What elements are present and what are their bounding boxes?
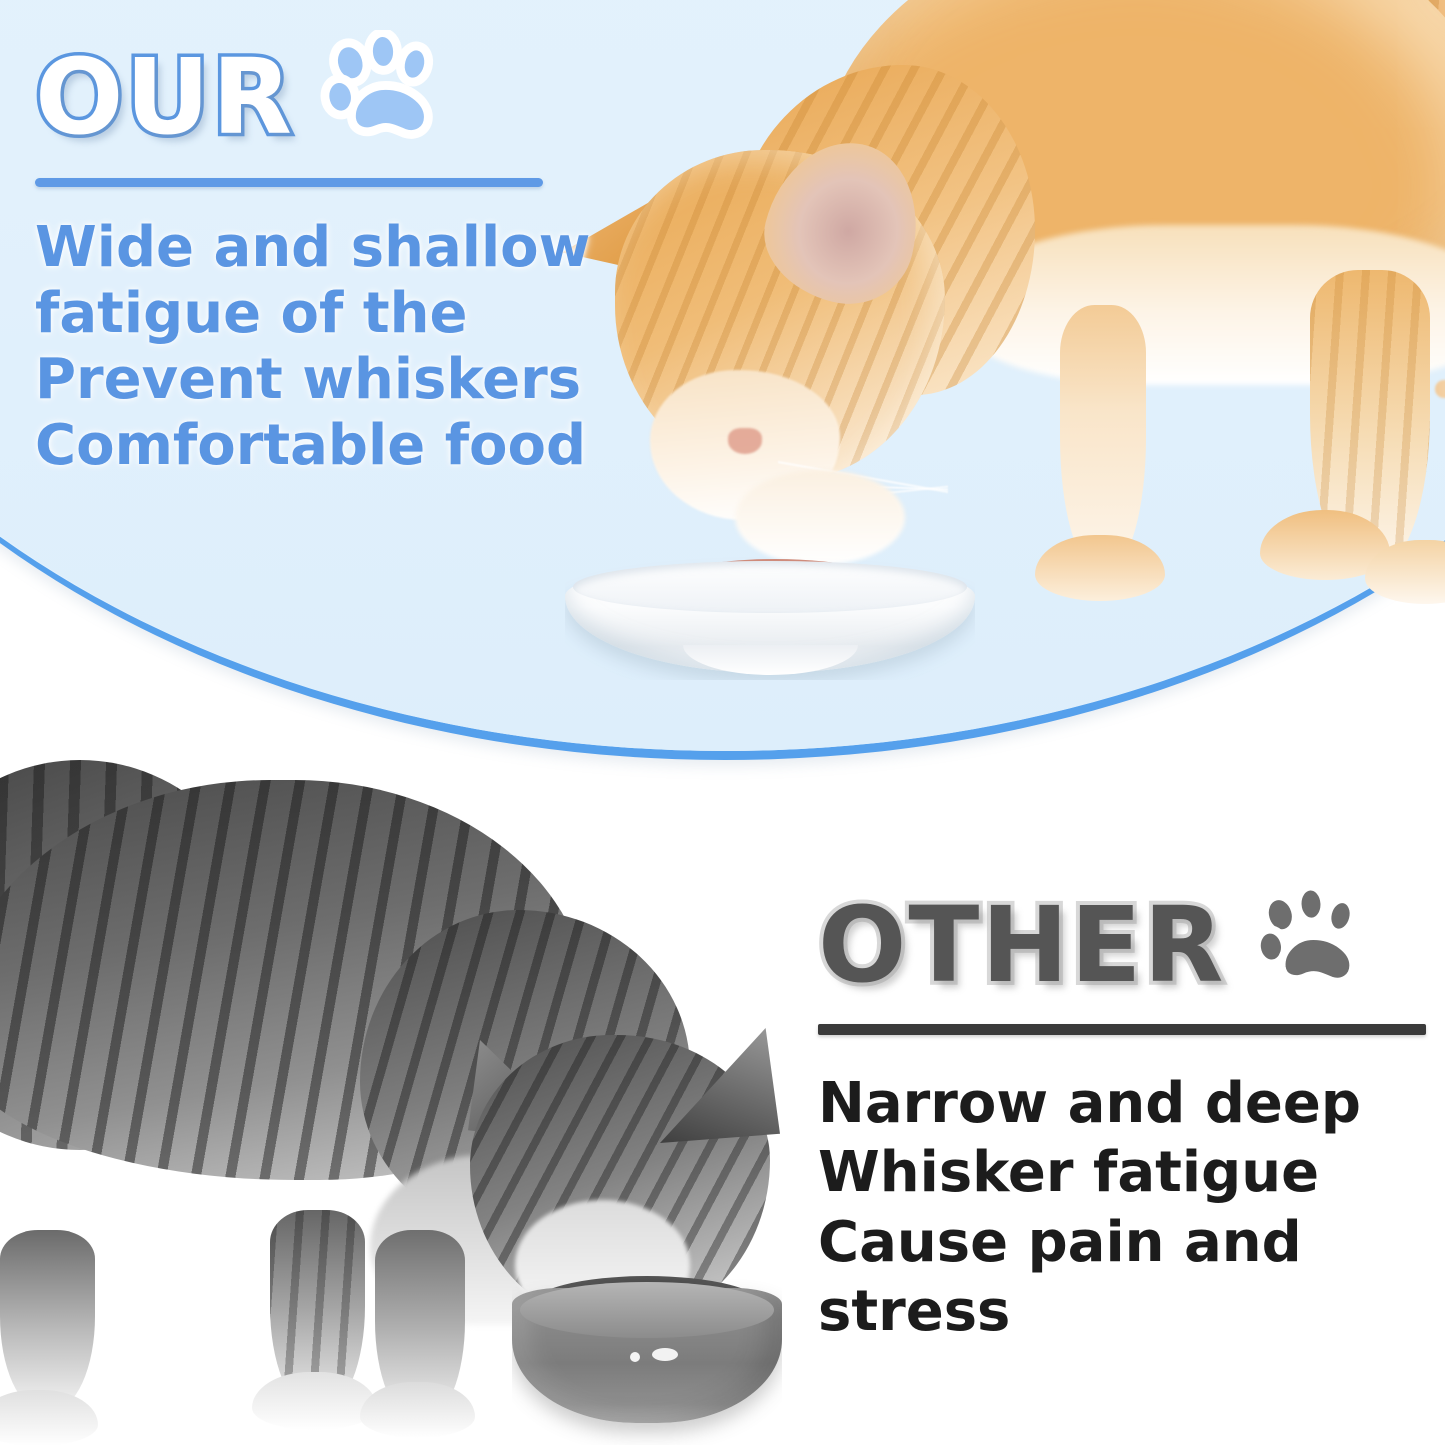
dish-rim: [573, 561, 967, 613]
other-line-3: Cause pain and: [818, 1208, 1428, 1277]
our-heading-row: OUR: [35, 38, 575, 156]
bowl-highlight-large: [652, 1348, 678, 1361]
comparison-infographic: OUR Wide and shallow fatigue of the Prev…: [0, 0, 1445, 1445]
other-line-2: Whisker fatigue: [818, 1138, 1428, 1207]
our-line-1: Wide and shallow: [35, 215, 575, 281]
our-divider: [35, 178, 543, 187]
bowl-highlight-small: [630, 1352, 640, 1362]
our-section: OUR Wide and shallow fatigue of the Prev…: [35, 38, 575, 479]
other-line-4: stress: [818, 1277, 1428, 1346]
orange-cat-paw-front: [1035, 535, 1165, 601]
orange-cat-nose: [728, 428, 762, 454]
orange-cat-tail: [1435, 380, 1445, 398]
other-section: OTHER Narrow and deep Whisker fatigue Ca…: [818, 888, 1428, 1347]
narrow-deep-bowl: [512, 1276, 782, 1445]
our-headline: OUR: [35, 45, 294, 149]
other-drawbacks-list: Narrow and deep Whisker fatigue Cause pa…: [818, 1069, 1428, 1347]
our-line-3: Prevent whiskers: [35, 347, 575, 413]
gray-cat-paw-left: [252, 1372, 377, 1430]
gray-cat-paw-right: [360, 1382, 475, 1438]
gray-cat-paw-hind: [0, 1390, 98, 1445]
our-line-2: fatigue of the: [35, 281, 575, 347]
dish-foot: [683, 645, 858, 675]
other-divider: [818, 1024, 1426, 1035]
other-heading-row: OTHER: [818, 888, 1428, 1002]
orange-cat-front-leg: [1060, 305, 1146, 570]
other-headline: OTHER: [818, 893, 1226, 997]
our-benefits-list: Wide and shallow fatigue of the Prevent …: [35, 215, 575, 479]
wide-shallow-dish: [565, 545, 975, 680]
other-line-1: Narrow and deep: [818, 1069, 1428, 1138]
our-line-4: Comfortable food: [35, 413, 575, 479]
paw-print-icon: [320, 30, 446, 156]
gray-cat-hind-leg: [0, 1230, 95, 1410]
paw-print-icon: [1252, 884, 1370, 1002]
bowl-rim: [520, 1282, 774, 1338]
